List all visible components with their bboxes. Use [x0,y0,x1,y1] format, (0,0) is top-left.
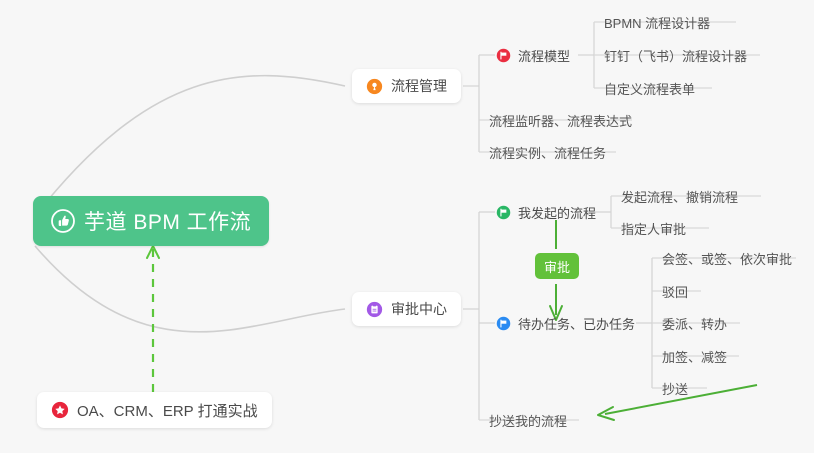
node-todo-done-tasks[interactable]: 待办任务、已办任务 [490,310,641,336]
flag-blue-icon [496,316,511,331]
root-label: 芋道 BPM 工作流 [84,206,251,236]
node-countersign-orsign-sequential[interactable]: 会签、或签、依次审批 [656,245,798,271]
mindmap-canvas: 芋道 BPM 工作流 流程管理 流程模型 BPMN 流程设计器 钉钉（飞书）流程… [0,0,814,453]
node-custom-process-form[interactable]: 自定义流程表单 [598,75,701,101]
node-label: 抄送我的流程 [489,411,567,430]
node-add-remove-sign[interactable]: 加签、减签 [656,343,733,369]
node-dingtalk-feishu-designer[interactable]: 钉钉（飞书）流程设计器 [598,42,753,68]
node-label: BPMN 流程设计器 [604,13,710,32]
node-label: 驳回 [662,282,688,301]
node-label: 流程实例、流程任务 [489,143,606,162]
node-designated-approver[interactable]: 指定人审批 [615,215,692,241]
node-label: 自定义流程表单 [604,79,695,98]
node-process-instance-task[interactable]: 流程实例、流程任务 [483,139,612,165]
node-cc-to-me-process[interactable]: 抄送我的流程 [483,407,573,433]
root-node[interactable]: 芋道 BPM 工作流 [33,196,269,246]
node-label: 流程管理 [391,76,447,96]
node-label: 审批中心 [391,299,447,319]
node-delegate-transfer[interactable]: 委派、转办 [656,310,733,336]
node-label: 待办任务、已办任务 [518,314,635,333]
node-label: 加签、减签 [662,347,727,366]
node-my-initiated-process[interactable]: 我发起的流程 [490,199,602,225]
node-label: 我发起的流程 [518,203,596,222]
integration-note-label: OA、CRM、ERP 打通实战 [77,400,258,421]
node-process-model[interactable]: 流程模型 [490,42,576,68]
node-process-listener-expression[interactable]: 流程监听器、流程表达式 [483,107,638,133]
node-label: 流程监听器、流程表达式 [489,111,632,130]
node-label: 指定人审批 [621,219,686,238]
node-bpmn-designer[interactable]: BPMN 流程设计器 [598,9,716,35]
node-process-management[interactable]: 流程管理 [352,69,461,103]
node-label: 钉钉（飞书）流程设计器 [604,46,747,65]
node-label: 发起流程、撤销流程 [621,187,738,206]
node-label: 会签、或签、依次审批 [662,249,792,268]
integration-note[interactable]: OA、CRM、ERP 打通实战 [37,392,272,428]
star-red-icon [51,401,69,419]
thumbs-up-icon [51,209,75,233]
node-label: 流程模型 [518,46,570,65]
flag-green-icon [496,205,511,220]
node-approval-center[interactable]: 审批中心 [352,292,461,326]
approval-tag: 审批 [535,253,579,279]
node-start-cancel-process[interactable]: 发起流程、撤销流程 [615,183,744,209]
node-reject[interactable]: 驳回 [656,278,694,304]
approval-tag-label: 审批 [544,257,570,276]
location-pin-icon [366,78,383,95]
node-label: 委派、转办 [662,314,727,333]
node-label: 抄送 [662,379,688,398]
flag-red-icon [496,48,511,63]
clipboard-purple-icon [366,301,383,318]
node-cc[interactable]: 抄送 [656,375,694,401]
